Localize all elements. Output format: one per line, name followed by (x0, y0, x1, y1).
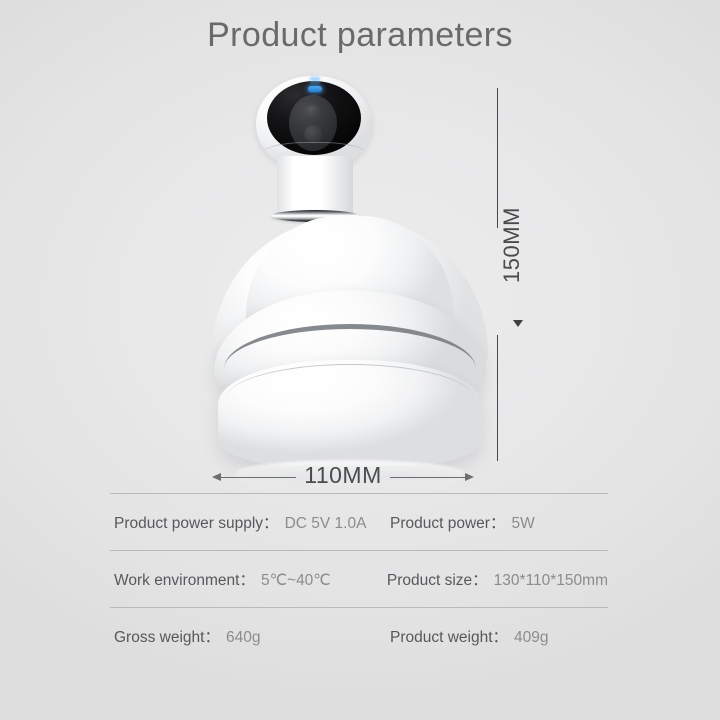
spec-value: 409g (514, 629, 548, 647)
spec-work-environment: Work environment： 5℃~40℃ (110, 568, 387, 590)
spec-value: 5W (511, 515, 534, 533)
spec-value: DC 5V 1.0A (285, 515, 367, 533)
table-row: Work environment： 5℃~40℃ Product size： 1… (110, 550, 608, 607)
spec-label: Product power： (390, 511, 505, 533)
spec-value: 5℃~40℃ (261, 571, 331, 590)
spec-label: Work environment： (114, 568, 255, 590)
spec-label: Product size： (387, 568, 488, 590)
ir-sensor-icon (305, 105, 321, 118)
spec-product-size: Product size： 130*110*150mm (387, 568, 608, 590)
product-image (200, 68, 500, 468)
spec-label: Product power supply： (114, 511, 279, 533)
width-dimension-line-left (220, 477, 296, 478)
specifications-table: Product power supply： DC 5V 1.0A Product… (110, 493, 608, 664)
height-dimension-line-bottom (497, 335, 498, 461)
width-dimension-label: 110MM (290, 462, 396, 489)
spec-power-supply: Product power supply： DC 5V 1.0A (110, 511, 390, 533)
camera-neck (277, 156, 353, 218)
width-arrow-right-icon (465, 473, 474, 481)
spec-product-weight: Product weight： 409g (390, 625, 608, 647)
status-led-icon (308, 86, 322, 92)
table-row: Product power supply： DC 5V 1.0A Product… (110, 493, 608, 550)
lens-glass-icon (304, 125, 322, 143)
height-dimension-line-top (497, 88, 498, 228)
spec-label: Product weight： (390, 625, 508, 647)
spec-label: Gross weight： (114, 625, 220, 647)
height-dimension-label: 150MM (499, 195, 525, 295)
height-dimension-arrow-icon (513, 320, 523, 327)
width-dimension: 110MM (210, 462, 476, 494)
width-dimension-line-right (390, 477, 466, 478)
spec-value: 130*110*150mm (494, 572, 608, 590)
spec-power: Product power： 5W (390, 511, 608, 533)
page-title: Product parameters (0, 16, 720, 55)
product-parameters-page: Product parameters 150MM 110MM (0, 0, 720, 720)
table-row: Gross weight： 640g Product weight： 409g (110, 607, 608, 664)
spec-value: 640g (226, 629, 260, 647)
spec-gross-weight: Gross weight： 640g (110, 625, 390, 647)
status-led-glow (310, 77, 320, 86)
